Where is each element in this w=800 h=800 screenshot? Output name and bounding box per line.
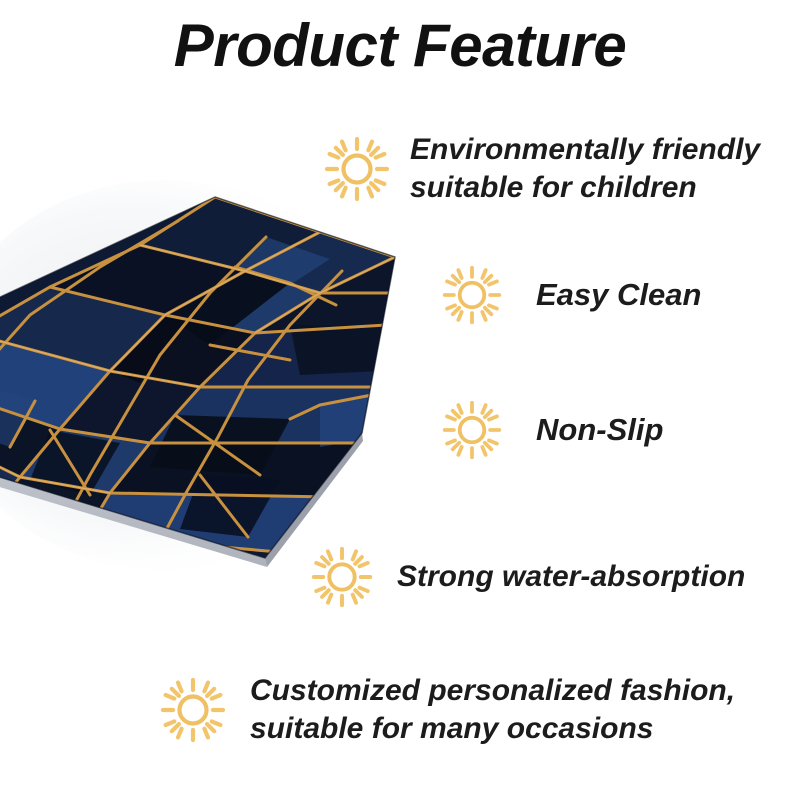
feature-item-strong-water-absorption: Strong water-absorption — [311, 546, 745, 608]
sun-icon — [442, 265, 502, 325]
page-title: Product Feature — [0, 14, 800, 77]
feature-label: Customized personalized fashion, suitabl… — [250, 672, 735, 749]
product-image — [0, 175, 420, 595]
feature-label: Strong water-absorption — [397, 558, 745, 596]
feature-label: Easy Clean — [536, 275, 701, 315]
feature-item-easy-clean: Easy Clean — [442, 265, 701, 325]
sun-icon — [442, 400, 502, 460]
feature-item-non-slip: Non-Slip — [442, 400, 663, 460]
feature-item-environmentally-friendly: Environmentally friendly suitable for ch… — [324, 131, 760, 208]
sun-icon — [311, 546, 373, 608]
product-feature-infographic: Product Feature — [0, 0, 800, 800]
sun-icon — [324, 136, 390, 202]
feature-label: Non-Slip — [536, 410, 663, 450]
feature-item-customized-personalized-fashion: Customized personalized fashion, suitabl… — [160, 672, 735, 749]
feature-label: Environmentally friendly suitable for ch… — [410, 131, 760, 208]
sun-icon — [160, 677, 226, 743]
